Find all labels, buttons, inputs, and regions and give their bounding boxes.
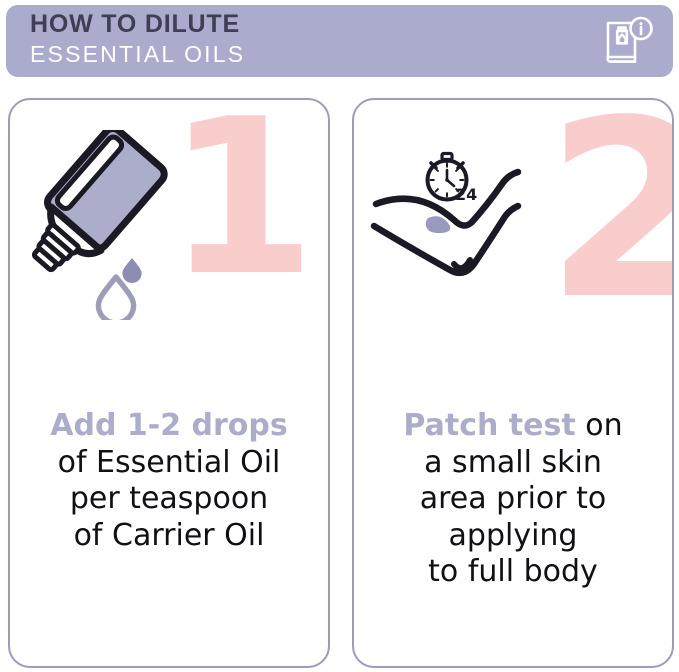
caption-line-1-1: of Essential Oil [58, 445, 281, 480]
page-title: HOW TO DILUTE [30, 12, 245, 37]
step-caption-1: Add 1-2 drops of Essential Oil per teasp… [10, 408, 328, 554]
caption-inline-2: on [576, 408, 623, 443]
step-card-1[interactable]: 1 [8, 98, 330, 668]
caption-line-1-3: of Carrier Oil [74, 518, 265, 553]
header-bar: HOW TO DILUTE ESSENTIAL OILS [6, 5, 673, 77]
dropper-bottle-icon [28, 130, 193, 320]
cards-container: 1 [0, 84, 679, 672]
caption-line-2-2: area prior to [420, 481, 607, 516]
page-subtitle: ESSENTIAL OILS [30, 43, 245, 66]
step-caption-2: Patch test on a small skin area prior to… [354, 408, 672, 591]
header-text-block: HOW TO DILUTE ESSENTIAL OILS [30, 12, 245, 66]
caption-line-2-1: a small skin [424, 445, 602, 480]
caption-line-2-3: applying [449, 518, 578, 553]
caption-highlight-2: Patch test [403, 408, 575, 443]
step-card-2[interactable]: 2 [352, 98, 674, 668]
arm-patch-test-icon: 24 [362, 142, 572, 292]
caption-highlight-1: Add 1-2 drops [50, 408, 287, 443]
stopwatch-label: 24 [455, 185, 477, 204]
caption-line-2-4: to full body [428, 554, 598, 589]
oil-bottle-info-icon [599, 14, 655, 70]
caption-line-1-2: per teaspoon [70, 481, 268, 516]
